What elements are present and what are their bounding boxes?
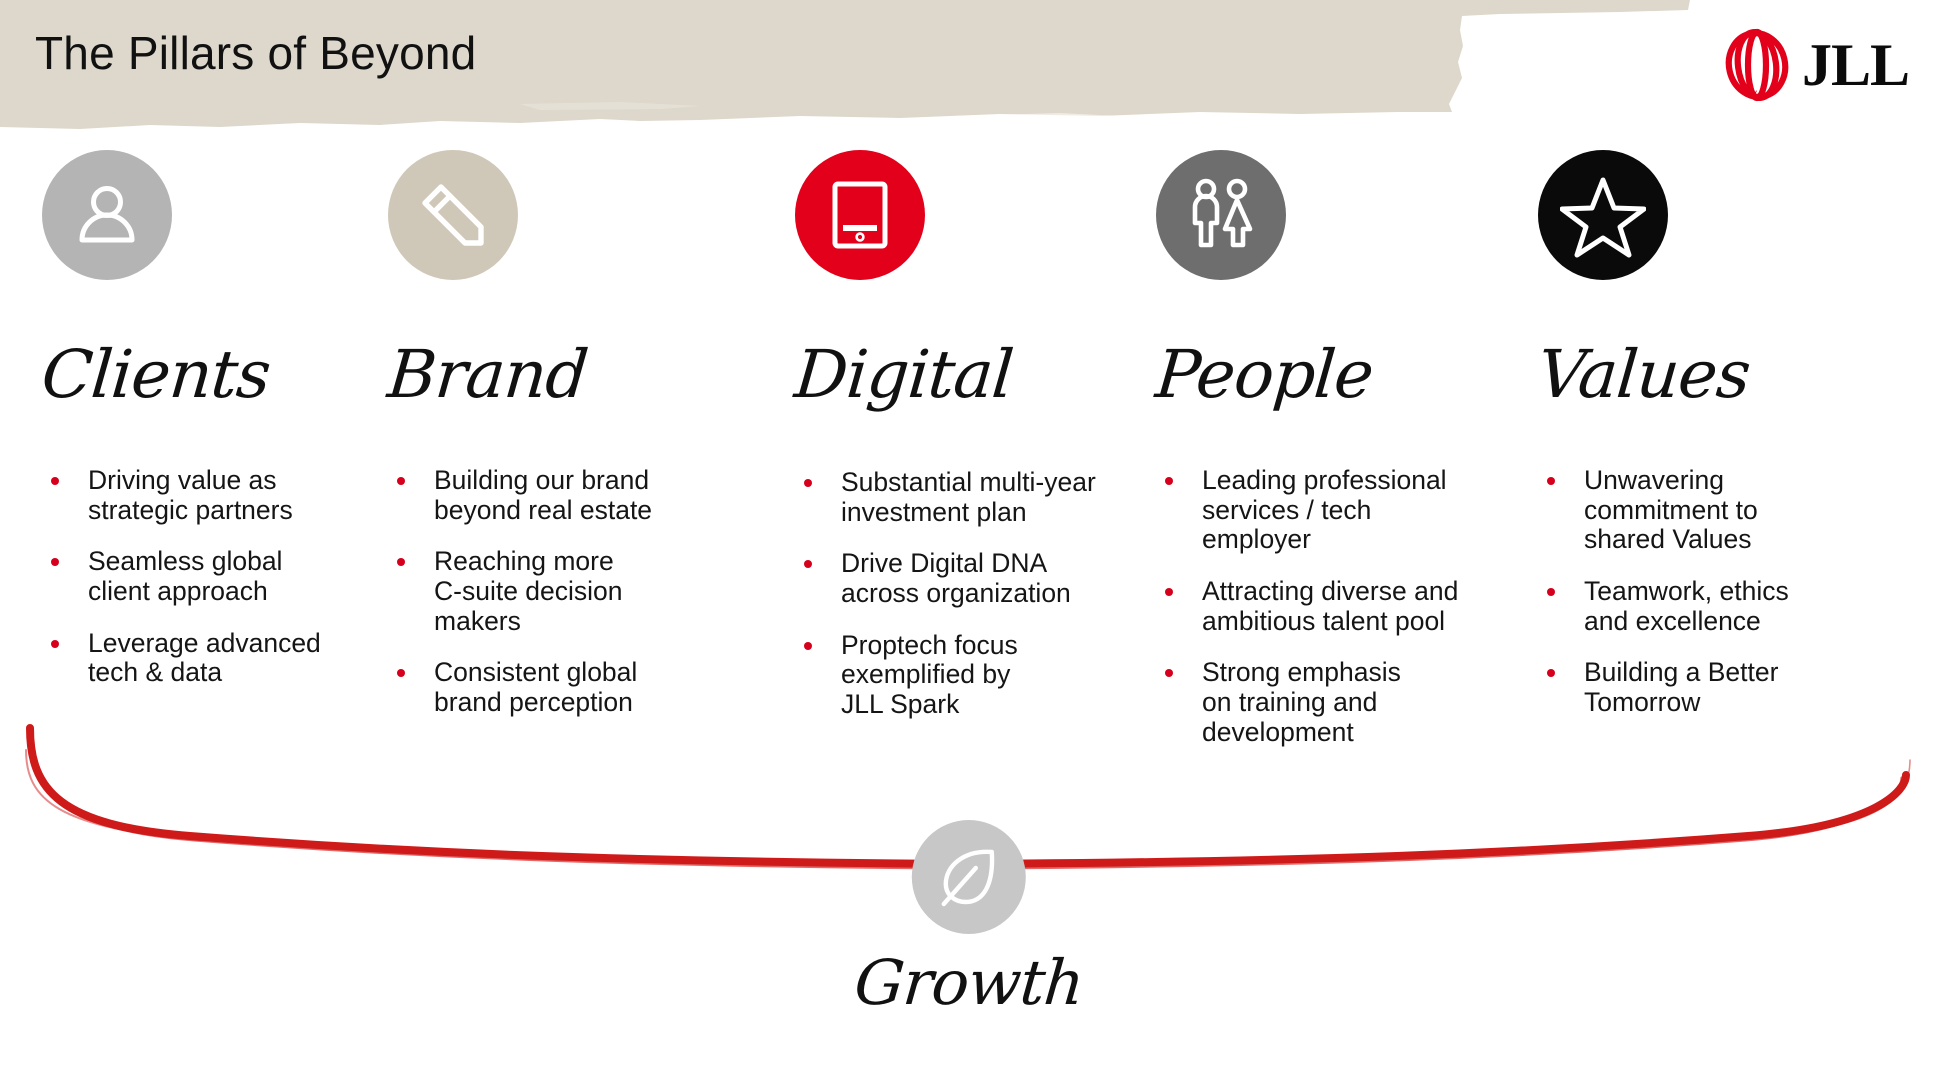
- bullet-line: investment plan: [841, 498, 1133, 528]
- bullet-dot-icon: [51, 558, 59, 566]
- header-brush-band: The Pillars of Beyond: [0, 0, 1700, 145]
- bullet-line: Consistent global: [434, 658, 753, 688]
- bullet-line: shared Values: [1584, 525, 1937, 555]
- bullet-line: development: [1202, 718, 1516, 748]
- bullet-dot-icon: [804, 560, 812, 568]
- bullet-line: Substantial multi-year: [841, 468, 1133, 498]
- bullet-dot-icon: [1165, 588, 1173, 596]
- bullet-line: exemplified by: [841, 660, 1133, 690]
- bullet-line: Seamless global: [88, 547, 380, 577]
- pillar-clients-bullets: Driving value as strategic partners Seam…: [42, 466, 380, 688]
- list-item: Substantial multi-year investment plan: [795, 468, 1133, 527]
- bullet-line: makers: [434, 607, 753, 637]
- pillar-values[interactable]: Values Unwavering commitment to shared V…: [1516, 140, 1937, 740]
- bullet-line: strategic partners: [88, 496, 380, 526]
- bullet-line: employer: [1202, 525, 1516, 555]
- pillar-values-icon-wrap: [1538, 140, 1937, 290]
- bullet-line: services / tech: [1202, 496, 1516, 526]
- bullet-line: commitment to: [1584, 496, 1937, 526]
- pillar-clients-heading: Clients: [39, 342, 383, 408]
- list-item: Consistent global brand perception: [388, 658, 753, 717]
- list-item: Teamwork, ethics and excellence: [1538, 577, 1937, 636]
- bullet-dot-icon: [1165, 477, 1173, 485]
- bullet-dot-icon: [804, 479, 812, 487]
- bullet-dot-icon: [397, 558, 405, 566]
- bullet-line: Leverage advanced: [88, 629, 380, 659]
- tablet-icon: [823, 178, 897, 252]
- growth-node[interactable]: Growth: [854, 820, 1082, 1014]
- pillar-values-circle: [1538, 150, 1668, 280]
- bullet-line: brand perception: [434, 688, 753, 718]
- jll-ribbon-mark-icon: [1720, 28, 1794, 102]
- list-item: Strong emphasis on training and developm…: [1156, 658, 1516, 747]
- list-item: Driving value as strategic partners: [42, 466, 380, 525]
- bullet-dot-icon: [397, 669, 405, 677]
- pillar-clients[interactable]: Clients Driving value as strategic partn…: [0, 140, 380, 710]
- bullet-dot-icon: [804, 642, 812, 650]
- bullet-line: Tomorrow: [1584, 688, 1937, 718]
- jll-logo: JLL: [1720, 28, 1909, 102]
- list-item: Drive Digital DNA across organization: [795, 549, 1133, 608]
- pillar-values-bullets: Unwavering commitment to shared Values T…: [1538, 466, 1937, 718]
- bullet-line: Reaching more: [434, 547, 753, 577]
- pillar-brand[interactable]: Brand Building our brand beyond real est…: [380, 140, 753, 740]
- pillar-people-circle: [1156, 150, 1286, 280]
- pillar-digital-heading: Digital: [792, 342, 1136, 408]
- bullet-line: client approach: [88, 577, 380, 607]
- growth-label: Growth: [852, 952, 1086, 1014]
- pillar-brand-heading: Brand: [385, 342, 756, 408]
- growth-circle: [911, 820, 1025, 934]
- bullet-line: Attracting diverse and: [1202, 577, 1516, 607]
- two-people-icon: [1181, 175, 1261, 255]
- pillar-clients-circle: [42, 150, 172, 280]
- bullet-dot-icon: [1547, 588, 1555, 596]
- bullet-dot-icon: [1547, 477, 1555, 485]
- pillar-brand-circle: [388, 150, 518, 280]
- pillar-digital-bullets: Substantial multi-year investment plan D…: [795, 468, 1133, 720]
- list-item: Reaching more C-suite decision makers: [388, 547, 753, 636]
- list-item: Proptech focus exemplified by JLL Spark: [795, 631, 1133, 720]
- leaf-icon: [933, 842, 1003, 912]
- pillar-digital[interactable]: Digital Substantial multi-year investmen…: [753, 140, 1133, 742]
- bullet-line: Leading professional: [1202, 466, 1516, 496]
- bullet-line: Building our brand: [434, 466, 753, 496]
- bullet-line: beyond real estate: [434, 496, 753, 526]
- bullet-dot-icon: [1547, 669, 1555, 677]
- bullet-line: across organization: [841, 579, 1133, 609]
- pillar-people-icon-wrap: [1156, 140, 1516, 290]
- bullet-line: Strong emphasis: [1202, 658, 1516, 688]
- bullet-line: Teamwork, ethics: [1584, 577, 1937, 607]
- bullet-dot-icon: [51, 477, 59, 485]
- list-item: Leverage advanced tech & data: [42, 629, 380, 688]
- pillar-clients-icon-wrap: [42, 140, 380, 290]
- pillar-people-heading: People: [1153, 342, 1519, 408]
- list-item: Building our brand beyond real estate: [388, 466, 753, 525]
- bullet-line: C-suite decision: [434, 577, 753, 607]
- bullet-line: Drive Digital DNA: [841, 549, 1133, 579]
- pencil-icon: [413, 175, 493, 255]
- bullet-line: tech & data: [88, 658, 380, 688]
- bullet-dot-icon: [397, 477, 405, 485]
- pillar-brand-bullets: Building our brand beyond real estate Re…: [388, 466, 753, 718]
- bullet-dot-icon: [1165, 669, 1173, 677]
- pillars-row: Clients Driving value as strategic partn…: [0, 140, 1937, 769]
- list-item: Building a Better Tomorrow: [1538, 658, 1937, 717]
- page-title: The Pillars of Beyond: [35, 26, 476, 80]
- list-item: Unwavering commitment to shared Values: [1538, 466, 1937, 555]
- person-icon: [68, 176, 146, 254]
- bullet-line: Unwavering: [1584, 466, 1937, 496]
- list-item: Attracting diverse and ambitious talent …: [1156, 577, 1516, 636]
- pillar-brand-icon-wrap: [388, 140, 753, 290]
- bullet-line: ambitious talent pool: [1202, 607, 1516, 637]
- bullet-line: Driving value as: [88, 466, 380, 496]
- bullet-dot-icon: [51, 640, 59, 648]
- bullet-line: on training and: [1202, 688, 1516, 718]
- pillar-values-heading: Values: [1535, 342, 1937, 408]
- bullet-line: and excellence: [1584, 607, 1937, 637]
- list-item: Seamless global client approach: [42, 547, 380, 606]
- pillar-digital-icon-wrap: [795, 140, 1133, 290]
- jll-wordmark: JLL: [1802, 35, 1909, 95]
- header-band-shape: [0, 0, 1700, 145]
- pillar-digital-circle: [795, 150, 925, 280]
- pillar-people[interactable]: People Leading professional services / t…: [1133, 140, 1516, 769]
- pillar-people-bullets: Leading professional services / tech emp…: [1156, 466, 1516, 747]
- list-item: Leading professional services / tech emp…: [1156, 466, 1516, 555]
- star-icon: [1560, 172, 1646, 258]
- bullet-line: JLL Spark: [841, 690, 1133, 720]
- bullet-line: Proptech focus: [841, 631, 1133, 661]
- bullet-line: Building a Better: [1584, 658, 1937, 688]
